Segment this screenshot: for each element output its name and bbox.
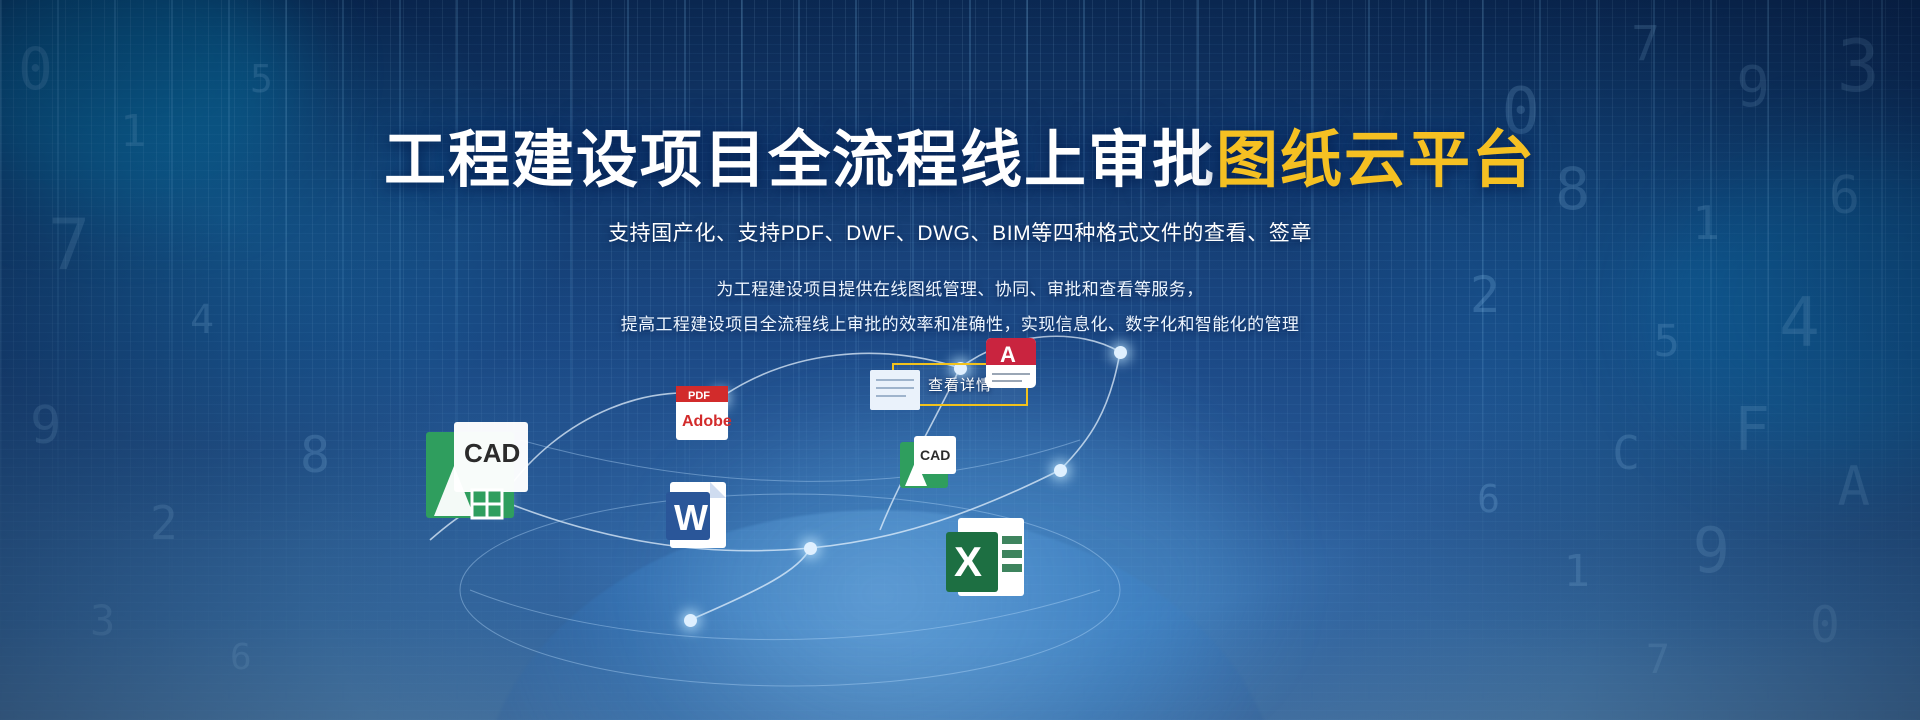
svg-text:X: X xyxy=(954,538,982,585)
description-line-1: 为工程建设项目提供在线图纸管理、协同、审批和查看等服务， xyxy=(0,273,1920,308)
svg-text:Adobe: Adobe xyxy=(682,413,732,430)
network-node xyxy=(1054,464,1067,477)
page-title: 工程建设项目全流程线上审批图纸云平台 xyxy=(0,128,1920,195)
pdf-icon: PDF Adobe xyxy=(672,380,734,449)
page-title-gold: 图纸云平台 xyxy=(1216,126,1536,195)
network-node xyxy=(804,542,817,555)
page-description: 为工程建设项目提供在线图纸管理、协同、审批和查看等服务， 提高工程建设项目全流程… xyxy=(0,273,1920,343)
hero-banner: 0 1 7 4 9 2 5 8 3 6 3 9 7 0 6 1 8 4 5 2 … xyxy=(0,0,1920,720)
doc-sheet-icon xyxy=(868,368,924,421)
cta-container: 查看详情 xyxy=(0,363,1920,406)
svg-text:PDF: PDF xyxy=(688,390,710,402)
word-icon: W xyxy=(664,478,738,559)
dwg-icon: CAD xyxy=(898,434,960,497)
svg-text:CAD: CAD xyxy=(464,438,520,468)
autocad-a-icon: A xyxy=(982,334,1044,401)
description-line-2: 提高工程建设项目全流程线上审批的效率和准确性，实现信息化、数字化和智能化的管理 xyxy=(0,308,1920,343)
page-subtitle: 支持国产化、支持PDF、DWF、DWG、BIM等四种格式文件的查看、签章 xyxy=(0,217,1920,247)
excel-icon: X xyxy=(944,514,1040,611)
cad-icon: CAD xyxy=(424,420,534,535)
svg-text:A: A xyxy=(1000,342,1016,367)
svg-text:W: W xyxy=(674,497,708,538)
svg-text:CAD: CAD xyxy=(920,447,950,463)
page-title-white: 工程建设项目全流程线上审批 xyxy=(384,126,1216,195)
network-node xyxy=(684,614,697,627)
hero-content: 工程建设项目全流程线上审批图纸云平台 支持国产化、支持PDF、DWF、DWG、B… xyxy=(0,0,1920,406)
